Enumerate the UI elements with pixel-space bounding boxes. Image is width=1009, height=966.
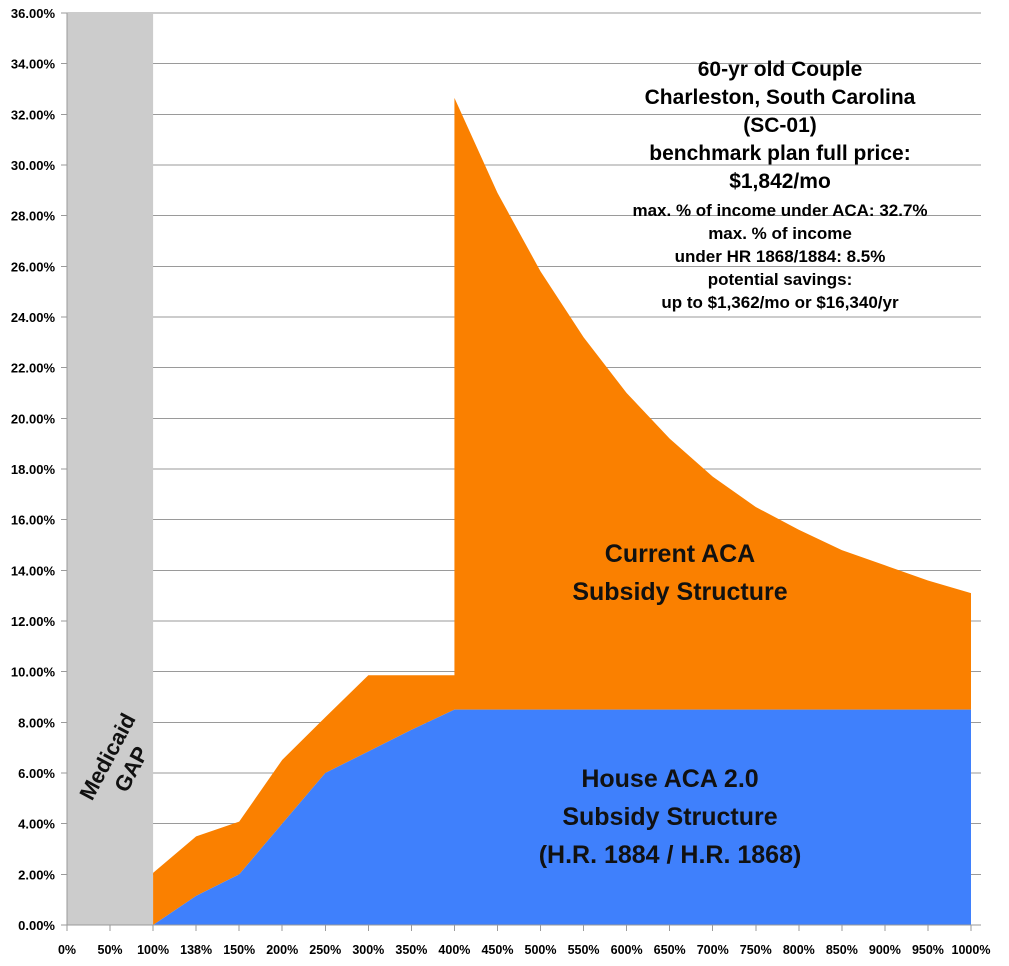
y-axis-tick-label: 10.00% (11, 665, 56, 680)
y-axis-tick-label: 20.00% (11, 411, 56, 426)
annotation-line: benchmark plan full price: (649, 142, 910, 165)
y-axis-tick-label: 36.00% (11, 6, 56, 21)
y-axis-tick-label: 24.00% (11, 310, 56, 325)
y-axis-tick-label: 32.00% (11, 107, 56, 122)
x-axis-tick-label: 250% (309, 943, 341, 957)
series-label-line: Subsidy Structure (572, 578, 787, 606)
series-label-line: House ACA 2.0 (581, 765, 758, 793)
x-axis-tick-label: 100% (137, 943, 169, 957)
y-axis-tick-label: 12.00% (11, 614, 56, 629)
y-axis-tick-label: 6.00% (18, 766, 55, 781)
x-axis-tick-label: 700% (697, 943, 729, 957)
x-axis-tick-label: 300% (352, 943, 384, 957)
x-axis-tick-label: 800% (783, 943, 815, 957)
y-axis-tick-label: 4.00% (18, 817, 55, 832)
annotation-line: max. % of income (708, 224, 852, 243)
x-axis-tick-label: 138% (180, 943, 212, 957)
y-axis-tick-label: 28.00% (11, 209, 56, 224)
y-axis-tick-label: 26.00% (11, 259, 56, 274)
x-axis-tick-label: 650% (654, 943, 686, 957)
y-axis-tick-label: 0.00% (18, 918, 55, 933)
y-axis-tick-label: 22.00% (11, 361, 56, 376)
x-axis-tick-label: 850% (826, 943, 858, 957)
series-label-line: Current ACA (605, 540, 755, 568)
medicaid-gap-region: MedicaidGAP (67, 13, 164, 925)
x-axis-tick-label: 350% (395, 943, 427, 957)
y-axis-tick-label: 14.00% (11, 563, 56, 578)
y-axis-tick-label: 16.00% (11, 513, 56, 528)
x-axis-tick-label: 900% (869, 943, 901, 957)
chart-container: MedicaidGAP 0.00%2.00%4.00%6.00%8.00%10.… (0, 0, 1009, 966)
x-axis-tick-label: 450% (481, 943, 513, 957)
x-axis-tick-label: 0% (58, 943, 76, 957)
x-axis-tick-label: 600% (611, 943, 643, 957)
x-axis-tick-label: 500% (525, 943, 557, 957)
x-axis-tick-label: 950% (912, 943, 944, 957)
annotation-line: under HR 1868/1884: 8.5% (675, 247, 886, 266)
series-label-line: (H.R. 1884 / H.R. 1868) (539, 841, 802, 869)
x-axis-tick-label: 750% (740, 943, 772, 957)
annotation-line: up to $1,362/mo or $16,340/yr (661, 293, 899, 312)
y-axis-tick-label: 2.00% (18, 867, 55, 882)
y-axis-tick-label: 34.00% (11, 57, 56, 72)
annotation-line: Charleston, South Carolina (645, 86, 916, 109)
x-axis-tick-label: 550% (568, 943, 600, 957)
y-axis-tick-label: 18.00% (11, 462, 56, 477)
x-axis-tick-labels: 0%50%100%138%150%200%250%300%350%400%450… (58, 943, 991, 957)
x-axis-tick-label: 50% (98, 943, 123, 957)
aca-subsidy-area-chart: MedicaidGAP 0.00%2.00%4.00%6.00%8.00%10.… (0, 0, 1009, 966)
x-axis-tick-label: 400% (438, 943, 470, 957)
x-axis-tick-label: 200% (266, 943, 298, 957)
annotation-line: max. % of income under ACA: 32.7% (632, 201, 927, 220)
annotation-line: 60-yr old Couple (698, 58, 863, 81)
annotation-line: potential savings: (708, 270, 853, 289)
x-axis-tick-label: 150% (223, 943, 255, 957)
annotation-line: $1,842/mo (729, 170, 831, 193)
y-axis-tick-label: 8.00% (18, 715, 55, 730)
x-axis-tick-label: 1000% (952, 943, 991, 957)
annotation-line: (SC-01) (743, 114, 817, 137)
series-label-line: Subsidy Structure (562, 803, 777, 831)
y-axis-tick-label: 30.00% (11, 158, 56, 173)
